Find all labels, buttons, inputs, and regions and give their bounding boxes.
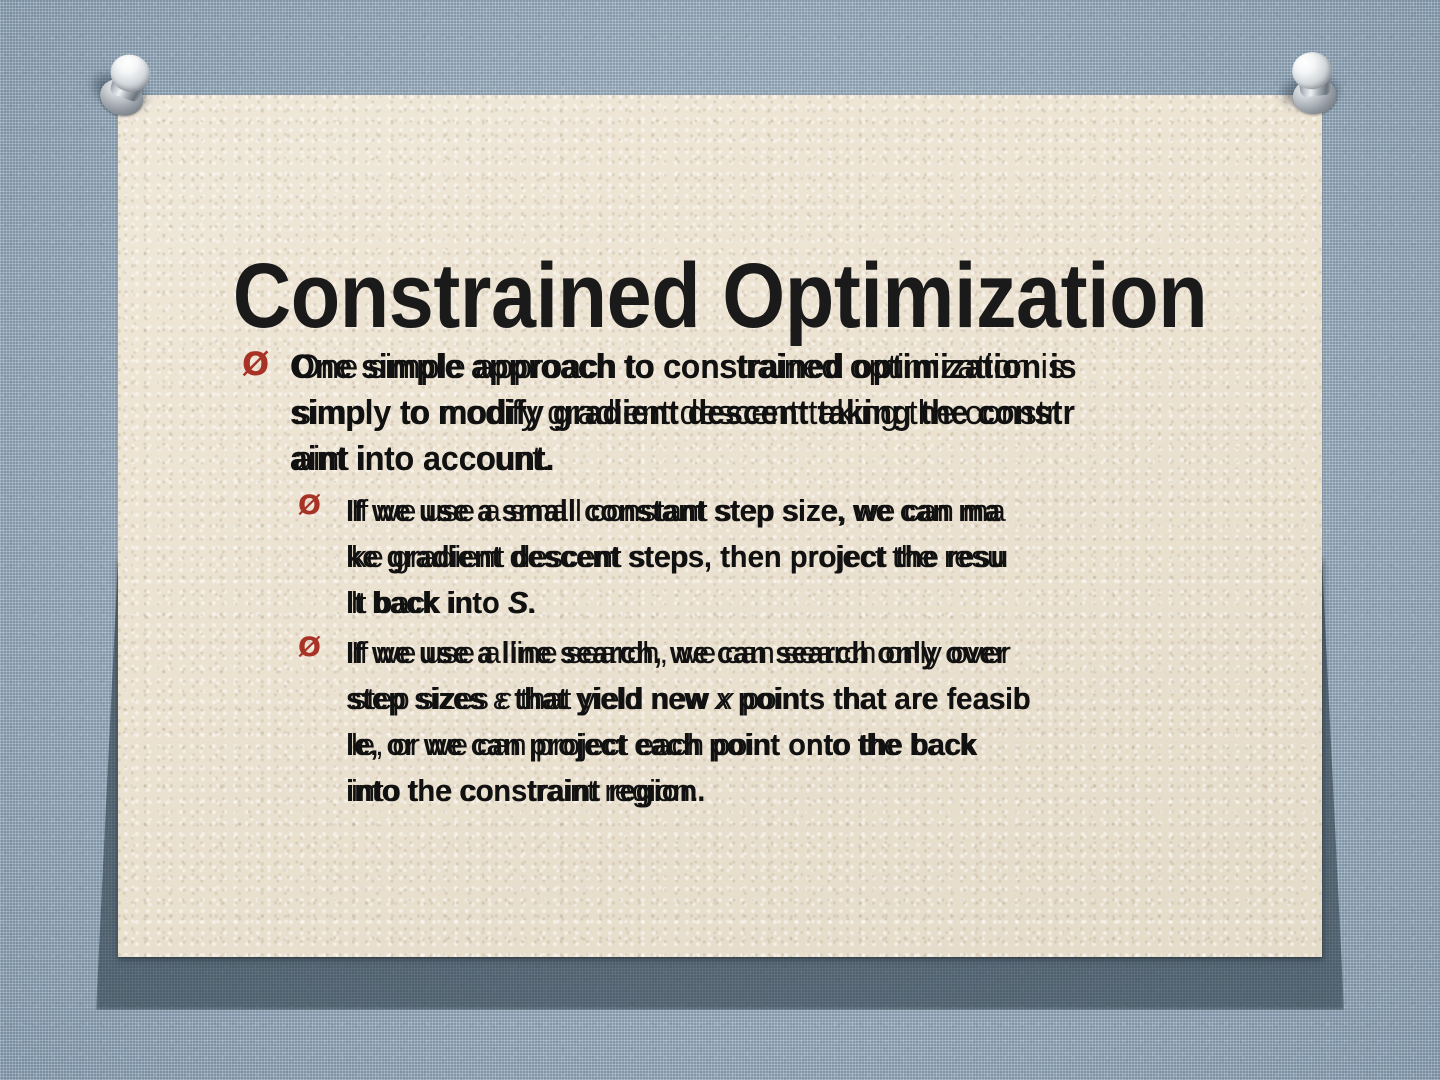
page-title: Constrained Optimization xyxy=(190,242,1250,350)
bullet-item-2: Ø If we use a small constant step size, … xyxy=(240,488,1220,628)
bullet-2-reg-line-2: ke gradient descent steps, then project … xyxy=(351,534,1225,580)
bullet-2-reg-line-3: lt back into S. xyxy=(351,580,1225,626)
bullet-2-regular-layer: If we use a small constant step size, we… xyxy=(351,488,1225,626)
bullet-text-stack-3: If we use a line search, we can search o… xyxy=(346,630,1220,816)
bullet-3-reg-line-4: into the constraint region. xyxy=(351,768,1225,814)
bullet-text-stack-1: One simple approach to constrained optim… xyxy=(290,344,1220,482)
bullet-1-regular-layer: One simple approach to constrained optim… xyxy=(294,344,1224,482)
bullet-3-reg-line-1: If we use a line search, we can search o… xyxy=(351,630,1225,676)
bullet-2-reg-line-1: If we use a small constant step size, we… xyxy=(351,488,1225,534)
bullet-marker-icon: Ø xyxy=(298,490,321,522)
bullet-item-1: Ø One simple approach to constrained opt… xyxy=(240,344,1220,482)
bullet-3-reg-line-3: le, or we can project each point onto th… xyxy=(351,722,1225,768)
slide-body: Ø One simple approach to constrained opt… xyxy=(240,344,1220,818)
bullet-3-reg-line-2: step sizes ε that yield new x points tha… xyxy=(351,676,1225,722)
pushpin-right-icon xyxy=(1272,46,1358,132)
bullet-marker-icon: Ø xyxy=(242,346,269,382)
bullet-marker-icon: Ø xyxy=(298,632,321,664)
bullet-1-reg-line-2: simply to modify gradient descent taking… xyxy=(294,390,1224,436)
bullet-1-reg-line-3: aint into account. xyxy=(294,436,1224,482)
bullet-3-regular-layer: If we use a line search, we can search o… xyxy=(351,630,1225,814)
bullet-1-reg-line-1: One simple approach to constrained optim… xyxy=(294,344,1224,390)
bullet-item-3: Ø If we use a line search, we can search… xyxy=(240,630,1220,816)
bullet-text-stack-2: If we use a small constant step size, we… xyxy=(346,488,1220,628)
